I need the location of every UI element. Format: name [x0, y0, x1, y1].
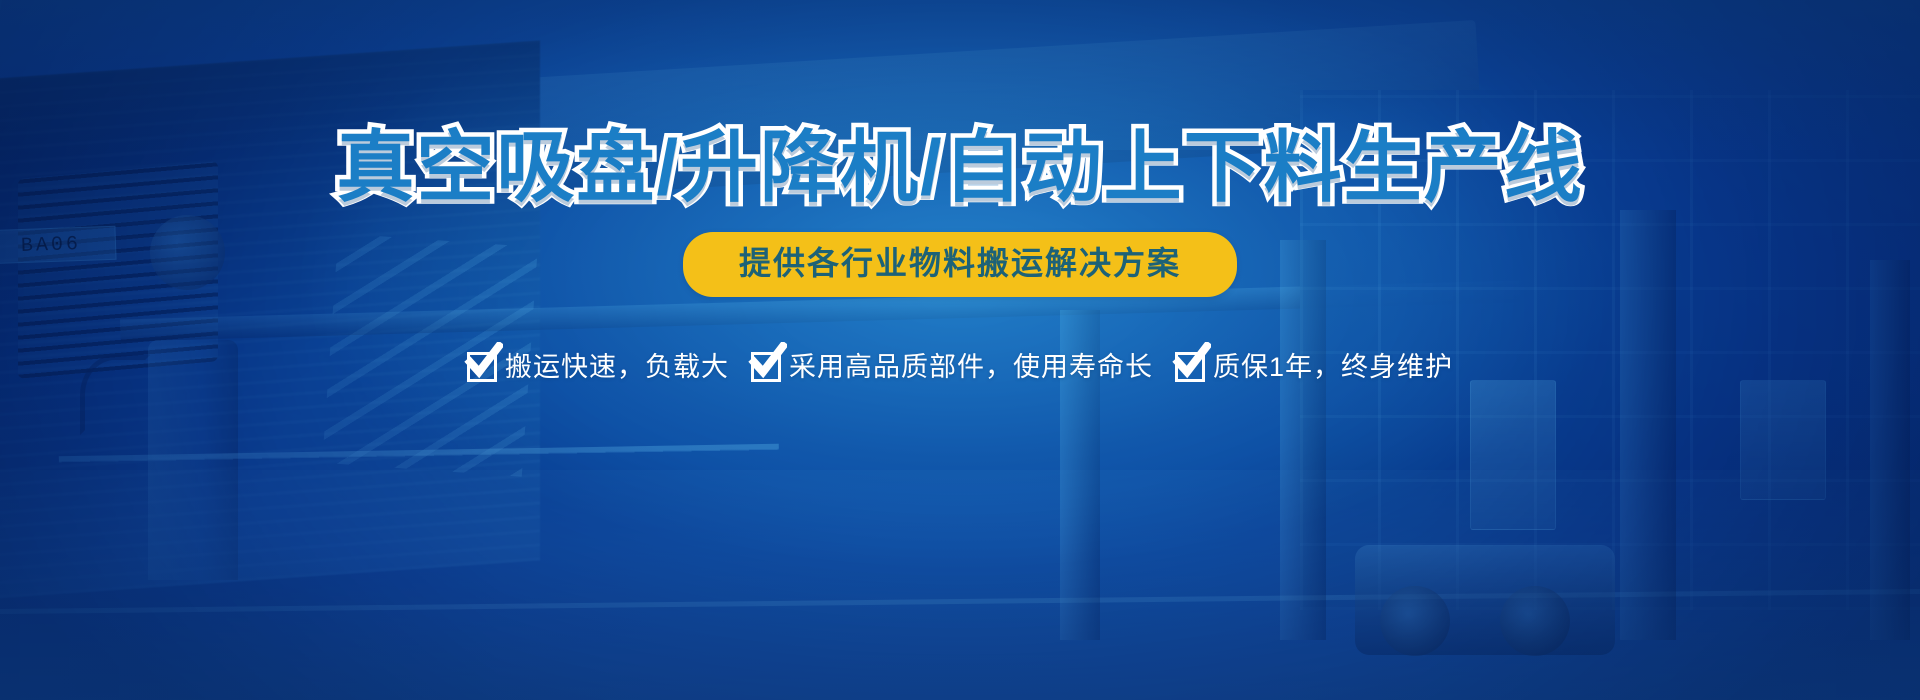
- feature-item-1: 搬运快速，负载大: [467, 352, 729, 382]
- checkbox-check-icon: [1175, 352, 1205, 382]
- promo-banner: BA06 真空吸盘/升降机/自动上下料生产线 提供各行业物料搬运解决方案 搬运快…: [0, 0, 1920, 700]
- banner-content: 真空吸盘/升降机/自动上下料生产线 提供各行业物料搬运解决方案 搬运快速，负载大…: [0, 0, 1920, 700]
- feature-item-2: 采用高品质部件，使用寿命长: [751, 352, 1153, 382]
- feature-label: 搬运快速，负载大: [505, 354, 729, 381]
- checkbox-check-icon: [751, 352, 781, 382]
- banner-subtitle-pill: 提供各行业物料搬运解决方案: [683, 232, 1237, 297]
- feature-label: 质保1年，终身维护: [1213, 354, 1453, 381]
- checkbox-check-icon: [467, 352, 497, 382]
- feature-list: 搬运快速，负载大 采用高品质部件，使用寿命长 质保1年，终身维护: [467, 352, 1453, 382]
- feature-item-3: 质保1年，终身维护: [1175, 352, 1453, 382]
- banner-headline: 真空吸盘/升降机/自动上下料生产线: [336, 128, 1583, 206]
- feature-label: 采用高品质部件，使用寿命长: [789, 354, 1153, 381]
